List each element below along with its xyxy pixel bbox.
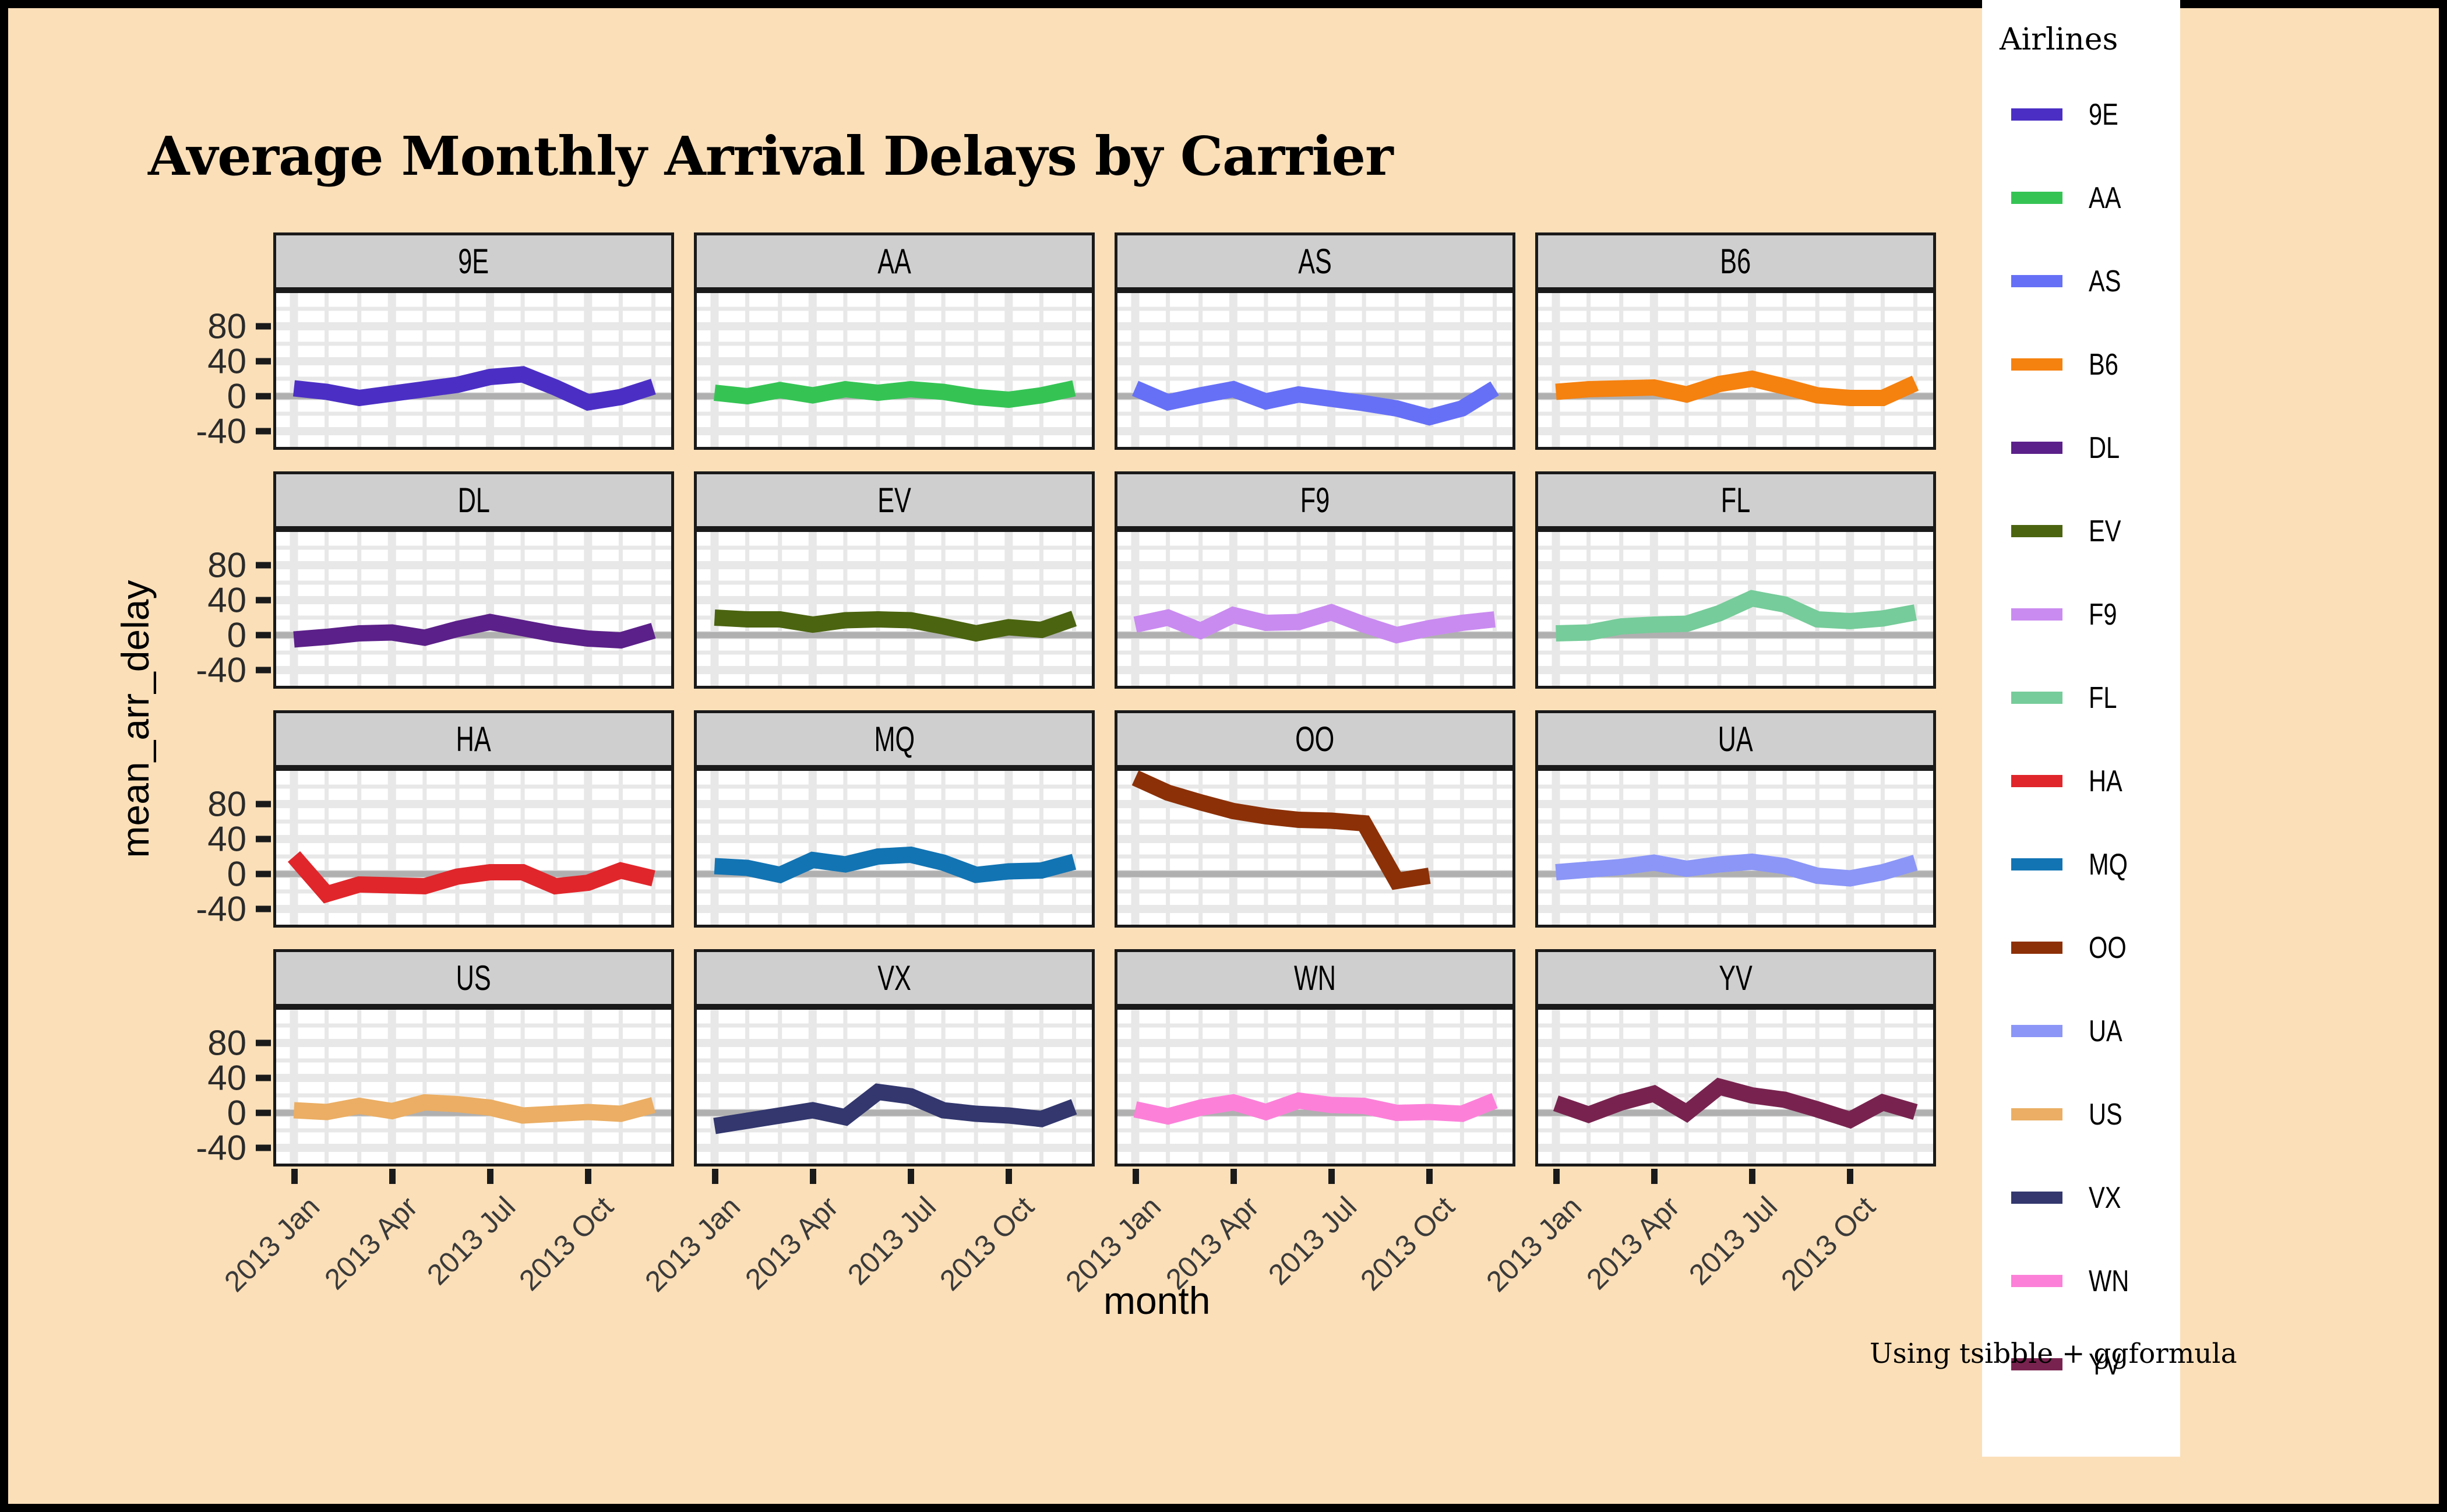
x-tick-mark [487,1169,493,1184]
facet-panel-us: US [273,949,674,1166]
facet-plot-area [694,1007,1095,1166]
y-tick-label: -40 [196,411,246,452]
facet-strip-b6: B6 [1535,232,1936,290]
facet-plot-area [694,768,1095,928]
facet-strip-ev: EV [694,471,1095,529]
legend-item-ev[interactable]: EV [1982,516,2180,547]
legend-item-label: FL [2089,682,2117,714]
x-tick-label: 2013 Oct [1354,1190,1461,1297]
legend-item-label: WN [2089,1266,2129,1297]
legend-item-f9[interactable]: F9 [1982,599,2180,630]
facet-strip-vx: VX [694,949,1095,1007]
x-tick-label: 2013 Apr [1159,1190,1265,1296]
facet-strip-label: VX [877,961,911,996]
facet-strip-mq: MQ [694,710,1095,768]
legend-item-label: OO [2089,932,2127,964]
x-tick-label: 2013 Oct [513,1190,620,1297]
y-tick-label: 80 [207,306,246,347]
legend-key-swatch [2011,608,2062,621]
legend-item-vx[interactable]: VX [1982,1182,2180,1214]
x-tick-mark [810,1169,816,1184]
facet-strip-label: YV [1719,961,1753,996]
facet-strip-label: EV [877,483,911,518]
facet-plot-area [1535,768,1936,928]
facet-plot-area [1115,290,1515,450]
legend-item-wn[interactable]: WN [1982,1266,2180,1297]
facet-panel-as: AS [1115,232,1515,450]
legend-key-swatch [2011,942,2062,954]
y-tick-mark [256,836,271,843]
y-tick-mark [256,1075,271,1081]
legend-item-9e[interactable]: 9E [1982,99,2180,131]
facet-plot-area [694,290,1095,450]
facet-plot-area [273,290,674,450]
facet-plot-area [273,1007,674,1166]
x-tick-label: 2013 Jan [217,1190,326,1298]
facet-strip-label: AS [1298,244,1332,279]
legend-item-label: HA [2089,766,2122,797]
page-title: Average Monthly Arrival Delays by Carrie… [148,125,1393,188]
y-tick-mark [256,871,271,877]
facet-plot-area [1115,1007,1515,1166]
legend-item-label: US [2089,1099,2122,1130]
x-tick-label: 2013 Jan [638,1190,746,1298]
facet-strip-fl: FL [1535,471,1936,529]
x-tick-mark [1553,1169,1560,1184]
y-tick-label: 0 [227,615,246,655]
legend-item-ua[interactable]: UA [1982,1016,2180,1047]
x-axis-title: month [1103,1278,1210,1323]
legend-item-fl[interactable]: FL [1982,682,2180,714]
legend-key-swatch [2011,1108,2062,1120]
x-tick-mark [1328,1169,1335,1184]
x-tick-mark [1651,1169,1658,1184]
x-tick-mark [1133,1169,1139,1184]
legend-item-label: MQ [2089,849,2128,880]
series-line-ev [715,618,1074,633]
legend-key-swatch [2011,1192,2062,1204]
legend-item-label: AS [2089,266,2121,297]
facet-strip-label: DL [457,483,489,518]
facet-strip-label: F9 [1300,483,1330,518]
legend-item-label: B6 [2089,349,2118,380]
legend-key-swatch [2011,858,2062,870]
legend-item-label: 9E [2089,99,2118,131]
legend-item-mq[interactable]: MQ [1982,849,2180,880]
x-tick-mark [1426,1169,1433,1184]
x-tick-mark [1749,1169,1755,1184]
legend-item-ha[interactable]: HA [1982,766,2180,797]
y-tick-label: 80 [207,1023,246,1063]
facet-strip-dl: DL [273,471,674,529]
facet-strip-label: B6 [1720,244,1751,279]
legend-item-aa[interactable]: AA [1982,182,2180,214]
facet-panel-fl: FL [1535,471,1936,689]
y-tick-mark [256,667,271,674]
y-tick-mark [256,906,271,912]
y-tick-label: 40 [207,1058,246,1098]
x-tick-label: 2013 Jul [1682,1190,1784,1292]
legend-key-swatch [2011,692,2062,704]
facet-plot-area [1535,1007,1936,1166]
facet-plot-area [1115,529,1515,689]
facet-panel-yv: YV [1535,949,1936,1166]
x-tick-mark [1847,1169,1853,1184]
y-tick-mark [256,428,271,435]
facet-strip-aa: AA [694,232,1095,290]
legend-key-swatch [2011,442,2062,454]
facet-strip-label: OO [1295,722,1334,757]
legend-item-dl[interactable]: DL [1982,432,2180,464]
legend-key-swatch [2011,1275,2062,1287]
facet-panel-b6: B6 [1535,232,1936,450]
facet-strip-label: MQ [874,722,915,757]
legend-panel: Airlines 9EAAASB6DLEVF9FLHAMQOOUAUSVXWNY… [1982,0,2180,1457]
legend-item-label: DL [2089,432,2120,464]
legend-item-label: AA [2089,182,2121,214]
x-tick-mark [1006,1169,1012,1184]
y-tick-mark [256,597,271,604]
facet-panel-vx: VX [694,949,1095,1166]
legend-key-swatch [2011,358,2062,371]
facet-strip-label: HA [456,722,491,757]
legend-key-swatch [2011,275,2062,287]
x-tick-mark [585,1169,591,1184]
series-line-aa [715,389,1074,400]
x-tick-label: 2013 Apr [318,1190,424,1296]
y-tick-mark [256,562,271,569]
legend-item-b6[interactable]: B6 [1982,349,2180,380]
facet-strip-label: WN [1294,961,1336,996]
x-tick-mark [389,1169,396,1184]
x-tick-label: 2013 Apr [738,1190,845,1296]
x-tick-mark [908,1169,914,1184]
facet-plot-area [273,529,674,689]
facet-strip-ua: UA [1535,710,1936,768]
legend-key-swatch [2011,108,2062,121]
legend-item-us[interactable]: US [1982,1099,2180,1130]
legend-item-as[interactable]: AS [1982,266,2180,297]
legend-key-swatch [2011,525,2062,537]
facet-strip-9e: 9E [273,232,674,290]
facet-strip-yv: YV [1535,949,1936,1007]
y-tick-label: -40 [196,1128,246,1168]
facet-panel-9e: 9E [273,232,674,450]
x-tick-mark [291,1169,298,1184]
y-tick-label: 0 [227,854,246,894]
legend-key-swatch [2011,1025,2062,1037]
caption: Using tsibble + ggformula [1870,1338,2237,1370]
facet-strip-label: AA [877,244,911,279]
legend-item-label: VX [2089,1182,2121,1214]
y-tick-label: 0 [227,376,246,417]
x-tick-label: 2013 Jul [1261,1190,1363,1292]
facet-plot-area [1535,529,1936,689]
x-tick-label: 2013 Jul [841,1190,943,1292]
facet-strip-oo: OO [1115,710,1515,768]
facet-plot-area [1535,290,1936,450]
x-tick-label: 2013 Jan [1479,1190,1588,1298]
y-tick-mark [256,323,271,330]
facet-strip-label: US [456,961,491,996]
y-tick-mark [256,358,271,365]
facet-strip-as: AS [1115,232,1515,290]
x-tick-label: 2013 Apr [1579,1190,1686,1296]
y-tick-label: 80 [207,784,246,824]
plot-canvas: Average Monthly Arrival Delays by Carrie… [8,8,2439,1504]
legend-item-label: UA [2089,1016,2122,1047]
facet-panel-oo: OO [1115,710,1515,928]
facet-panel-ev: EV [694,471,1095,689]
y-tick-mark [256,801,271,808]
facet-panel-ha: HA [273,710,674,928]
x-tick-label: 2013 Oct [1775,1190,1882,1297]
facet-panel-aa: AA [694,232,1095,450]
legend-key-swatch [2011,192,2062,204]
facet-panel-dl: DL [273,471,674,689]
facet-plot-area [1115,768,1515,928]
legend-item-label: F9 [2089,599,2117,630]
series-line-oo [1136,778,1430,881]
facet-strip-us: US [273,949,674,1007]
x-tick-label: 2013 Oct [933,1190,1041,1297]
y-tick-label: -40 [196,650,246,690]
x-tick-mark [1230,1169,1237,1184]
facet-strip-label: FL [1721,483,1750,518]
y-tick-label: -40 [196,889,246,929]
facet-plot-area [273,768,674,928]
legend-item-oo[interactable]: OO [1982,932,2180,964]
x-tick-label: 2013 Jul [420,1190,522,1292]
legend-title: Airlines [2000,22,2118,57]
y-tick-mark [256,632,271,639]
y-tick-label: 0 [227,1093,246,1133]
y-tick-mark [256,1040,271,1046]
facet-strip-label: UA [1718,722,1753,757]
facet-panel-wn: WN [1115,949,1515,1166]
y-tick-mark [256,1110,271,1116]
facet-panel-ua: UA [1535,710,1936,928]
y-tick-label: 40 [207,819,246,859]
facet-strip-label: 9E [459,244,489,279]
legend-item-label: EV [2089,516,2121,547]
facet-strip-ha: HA [273,710,674,768]
y-tick-label: 40 [207,341,246,382]
facet-grid: 9EAAASB6DLEVF9FLHAMQOOUAUSVXWNYV [273,232,1937,1168]
legend-key-swatch [2011,775,2062,787]
y-tick-label: 80 [207,545,246,586]
facet-strip-wn: WN [1115,949,1515,1007]
y-tick-mark [256,393,271,400]
facet-panel-f9: F9 [1115,471,1515,689]
facet-panel-mq: MQ [694,710,1095,928]
x-tick-mark [712,1169,718,1184]
y-tick-mark [256,1145,271,1151]
y-tick-label: 40 [207,580,246,621]
series-line-us [294,1102,654,1116]
facet-plot-area [694,529,1095,689]
facet-strip-f9: F9 [1115,471,1515,529]
y-axis-title: mean_arr_delay [113,580,157,858]
